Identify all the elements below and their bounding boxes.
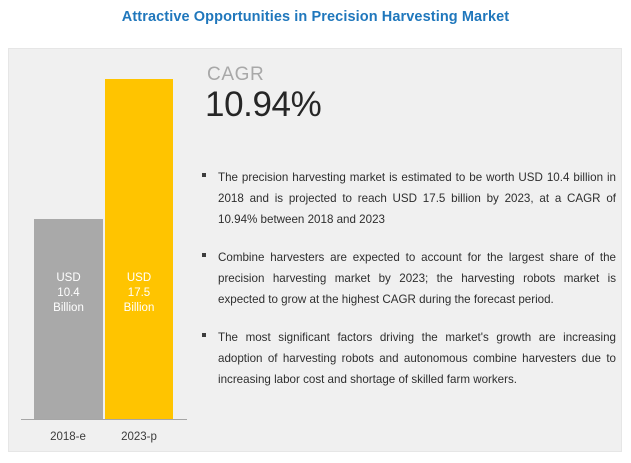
bar-2023-value: USD 17.5 Billion bbox=[105, 271, 173, 316]
bar-2018-value-line1: USD bbox=[34, 271, 103, 286]
x-axis-line bbox=[21, 419, 187, 420]
bar-2023-value-line2: 17.5 bbox=[105, 286, 173, 301]
bar-2018-value-line2: 10.4 bbox=[34, 286, 103, 301]
square-bullet-icon bbox=[202, 173, 206, 177]
list-item: The precision harvesting market is estim… bbox=[199, 167, 619, 230]
bullet-text-2: Combine harvesters are expected to accou… bbox=[218, 247, 616, 310]
square-bullet-icon bbox=[202, 253, 206, 257]
bar-2018: USD 10.4 Billion bbox=[34, 219, 103, 419]
bar-2023-value-line1: USD bbox=[105, 271, 173, 286]
infographic-panel: USD 10.4 Billion USD 17.5 Billion 2018-e… bbox=[8, 48, 622, 452]
bar-2023: USD 17.5 Billion bbox=[105, 79, 173, 419]
bullet-list: The precision harvesting market is estim… bbox=[199, 167, 619, 407]
bar-2018-value-line3: Billion bbox=[34, 301, 103, 316]
bar-2018-value: USD 10.4 Billion bbox=[34, 271, 103, 316]
content-area: CAGR 10.94% The precision harvesting mar… bbox=[194, 49, 623, 453]
page-title: Attractive Opportunities in Precision Ha… bbox=[0, 0, 631, 34]
list-item: Combine harvesters are expected to accou… bbox=[199, 247, 619, 310]
bar-chart: USD 10.4 Billion USD 17.5 Billion 2018-e… bbox=[9, 49, 194, 453]
bar-2023-value-line3: Billion bbox=[105, 301, 173, 316]
axis-label-2023: 2023-p bbox=[104, 431, 174, 443]
square-bullet-icon bbox=[202, 333, 206, 337]
cagr-value: 10.94% bbox=[205, 85, 321, 125]
axis-label-2018: 2018-e bbox=[33, 431, 103, 443]
bullet-text-3: The most significant factors driving the… bbox=[218, 327, 616, 390]
cagr-label: CAGR bbox=[207, 64, 264, 86]
list-item: The most significant factors driving the… bbox=[199, 327, 619, 390]
bullet-text-1: The precision harvesting market is estim… bbox=[218, 167, 616, 230]
